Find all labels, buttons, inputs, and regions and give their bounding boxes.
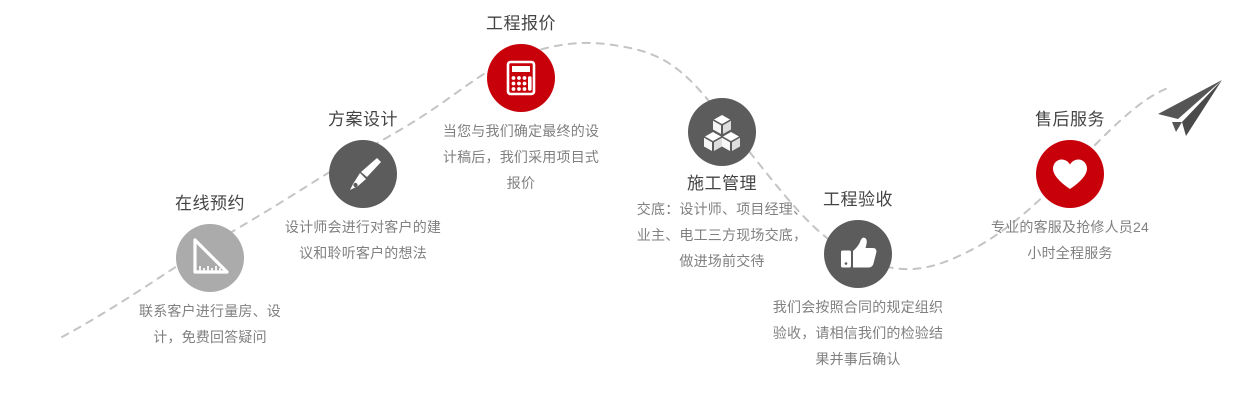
cubes-icon[interactable] <box>688 98 756 166</box>
step-icon-wrap <box>426 44 616 112</box>
pen-nib-icon[interactable] <box>329 140 397 208</box>
step-description: 当您与我们确定最终的设计稿后，我们采用项目式报价 <box>426 118 616 196</box>
process-flow-diagram: 在线预约 联系客户进行量房、设计，免费回答疑问 方案设计 <box>0 0 1245 402</box>
thumbs-up-icon[interactable] <box>824 220 892 288</box>
step-icon-wrap <box>975 140 1165 208</box>
flow-step-6[interactable]: 售后服务 专业的客服及抢修人员24小时全程服务 <box>975 108 1165 266</box>
triangle-ruler-icon[interactable] <box>176 224 244 292</box>
step-icon-wrap <box>763 220 953 288</box>
step-title: 售后服务 <box>975 108 1165 132</box>
step-description: 我们会按照合同的规定组织验收，请相信我们的检验结果并事后确认 <box>763 294 953 372</box>
step-title: 工程报价 <box>426 12 616 36</box>
calculator-icon[interactable] <box>487 44 555 112</box>
heart-icon[interactable] <box>1036 140 1104 208</box>
step-description: 设计师会进行对客户的建议和聆听客户的想法 <box>268 214 458 266</box>
flow-step-5[interactable]: 工程验收 我们会按照合同的规定组织验收，请相信我们的检验结果并事后确认 <box>763 188 953 372</box>
step-icon-wrap <box>632 98 812 166</box>
step-title: 工程验收 <box>763 188 953 212</box>
step-description: 专业的客服及抢修人员24小时全程服务 <box>975 214 1165 266</box>
flow-step-3[interactable]: 工程报价 <box>426 12 616 196</box>
step-description: 联系客户进行量房、设计，免费回答疑问 <box>115 298 305 350</box>
